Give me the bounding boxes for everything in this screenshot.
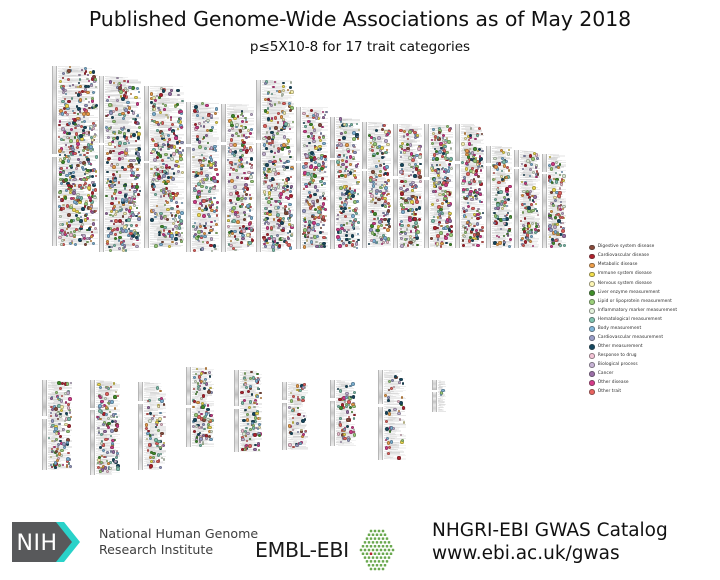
association-dot (476, 210, 478, 212)
nih-logo-icon: NIH (12, 518, 90, 566)
association-dot (193, 388, 195, 390)
legend-color-swatch (589, 344, 595, 350)
association-dot (84, 104, 87, 107)
association-dot (216, 173, 219, 176)
association-dot (97, 466, 100, 469)
nih-institute-name: National Human Genome Research Institute (99, 526, 258, 558)
association-dot (182, 149, 184, 151)
association-dot (347, 173, 350, 176)
association-dot (249, 194, 251, 196)
legend-item-label: Inflammatory marker measurement (598, 309, 677, 313)
association-dot (249, 175, 253, 179)
association-dot (476, 134, 478, 136)
association-dot (125, 91, 127, 93)
association-dot (123, 142, 126, 145)
association-dot (104, 397, 107, 400)
association-dot (256, 395, 259, 398)
centromere-marker (234, 406, 239, 409)
association-dot (177, 221, 179, 223)
legend-color-swatch (589, 245, 595, 251)
association-dot (214, 168, 217, 171)
association-dots (302, 107, 328, 249)
association-dot (203, 380, 206, 383)
association-dot (205, 205, 207, 207)
association-dot (316, 223, 320, 227)
association-dot (111, 442, 114, 445)
association-dot (441, 190, 443, 192)
chromosome-ideogram (393, 124, 398, 248)
association-dots (384, 370, 406, 460)
association-dot (291, 409, 294, 412)
association-dot (531, 209, 534, 212)
association-dot (297, 407, 299, 409)
association-dot (243, 218, 246, 221)
association-dot (171, 168, 173, 170)
association-dot (296, 422, 299, 425)
association-dot (323, 245, 326, 248)
association-dot (58, 464, 61, 467)
legend-item-label: Body measurement (598, 327, 641, 331)
association-dot (288, 203, 292, 207)
association-dot (195, 440, 198, 443)
association-dot (477, 213, 480, 216)
association-dot (232, 219, 236, 223)
association-dot (311, 200, 314, 203)
association-dot (203, 428, 205, 430)
association-dot (246, 233, 250, 237)
association-dot (62, 72, 65, 75)
association-dot (50, 426, 52, 428)
legend-item: Liver enzyme measurement (589, 288, 717, 297)
association-dot (349, 385, 352, 388)
association-dot (309, 156, 313, 160)
association-dot (267, 92, 269, 94)
association-dot (245, 193, 248, 196)
legend-color-swatch (589, 380, 595, 386)
association-dot (324, 208, 327, 211)
legend-item-label: Liver enzyme measurement (598, 291, 660, 295)
association-dot (69, 139, 73, 143)
footer: NIH National Human Genome Research Insti… (0, 505, 720, 580)
association-dot (232, 206, 236, 210)
nih-line-2: Research Institute (99, 542, 258, 558)
association-dot (381, 128, 384, 131)
association-dot (79, 110, 81, 112)
association-dot (351, 214, 355, 218)
association-dot (130, 174, 133, 177)
legend-item: Other measurement (589, 343, 717, 352)
legend-color-swatch (589, 299, 595, 305)
association-dot (378, 174, 381, 177)
association-dot (211, 126, 214, 129)
association-dot (355, 164, 359, 168)
association-dot (386, 240, 389, 243)
association-dot (419, 163, 422, 166)
association-dot (522, 211, 524, 213)
association-dot (69, 191, 72, 194)
association-dot (351, 426, 354, 429)
association-dot (164, 204, 166, 206)
association-dot (110, 220, 112, 222)
association-dot (178, 215, 181, 218)
centromere-marker (330, 158, 335, 161)
association-dot (159, 466, 162, 469)
association-dot (62, 91, 65, 94)
centromere-marker (256, 140, 261, 143)
association-dot (345, 244, 348, 247)
association-dot (208, 232, 211, 235)
association-dot (559, 208, 562, 211)
association-dot (264, 245, 266, 247)
association-dot (150, 460, 153, 463)
centromere-marker (432, 390, 437, 393)
association-dot (386, 133, 389, 136)
association-dot (561, 216, 564, 219)
association-dot (535, 166, 538, 169)
association-dot (150, 168, 152, 170)
association-dot (118, 247, 121, 250)
association-dot (193, 400, 195, 402)
association-dot (86, 158, 90, 162)
association-dot (178, 226, 181, 229)
association-dot (229, 199, 232, 202)
association-dot (92, 70, 96, 74)
association-dots (240, 370, 262, 452)
association-dot (157, 405, 160, 408)
association-dot (382, 212, 384, 214)
association-dot (399, 170, 403, 174)
association-dot (86, 237, 89, 240)
association-dot (204, 372, 207, 375)
association-dot (300, 429, 302, 431)
centromere-marker (455, 161, 460, 164)
association-dot (441, 389, 445, 393)
association-dot (157, 152, 160, 155)
association-dot (160, 225, 163, 228)
association-dot (316, 189, 319, 192)
association-dot (137, 217, 141, 221)
association-dot (382, 234, 385, 237)
association-dot (272, 187, 275, 190)
association-dot (353, 414, 355, 416)
association-dot (241, 234, 244, 237)
association-dot (67, 188, 70, 191)
association-dot (174, 136, 178, 140)
association-dot (289, 246, 292, 249)
association-dot (419, 180, 422, 183)
association-dot (527, 231, 529, 233)
association-dot (118, 141, 122, 145)
association-dot (404, 232, 406, 234)
association-dot (290, 81, 292, 83)
association-dot (559, 187, 561, 189)
association-dot (205, 178, 208, 181)
association-dot (480, 169, 482, 171)
association-dot (430, 237, 432, 239)
association-dot (163, 458, 166, 461)
association-dot (474, 195, 476, 197)
association-dot (169, 196, 172, 199)
association-dot (391, 379, 394, 382)
association-dot (64, 423, 68, 427)
association-dot (280, 129, 283, 132)
association-dot (312, 140, 316, 144)
association-dot (210, 237, 214, 241)
centromere-marker (186, 405, 191, 408)
association-dot (123, 80, 126, 83)
association-dot (343, 185, 346, 188)
association-dot (373, 142, 377, 146)
association-dot (469, 148, 471, 150)
association-dot (414, 213, 417, 216)
legend-item: Other trait (589, 388, 717, 397)
association-dot (135, 140, 137, 142)
association-dot (250, 148, 254, 152)
association-dots (520, 150, 540, 248)
association-dot (384, 394, 387, 397)
association-dot (75, 210, 78, 213)
association-dot (237, 115, 239, 117)
association-dot (209, 156, 212, 159)
association-dot (400, 231, 402, 233)
association-dot (462, 191, 464, 193)
association-dot (433, 226, 436, 229)
association-dot (241, 165, 244, 168)
association-dot (168, 138, 170, 140)
chromosome-ideogram (486, 146, 491, 248)
association-dot (290, 185, 292, 187)
association-dot (116, 77, 119, 80)
embl-ebi-branding: EMBL-EBI (255, 527, 400, 573)
association-dot (250, 197, 252, 199)
association-dot (123, 244, 126, 247)
association-dot (87, 186, 91, 190)
association-dot (119, 206, 121, 208)
association-dot (434, 139, 436, 141)
association-dot (401, 439, 404, 442)
association-dot (555, 172, 557, 174)
association-dot (264, 218, 267, 221)
chromosome-11 (424, 124, 453, 248)
association-dot (434, 169, 437, 172)
association-dot (274, 164, 276, 166)
association-dot (67, 452, 70, 455)
association-dot (157, 429, 160, 432)
association-dot (162, 233, 165, 236)
association-dot (302, 209, 306, 213)
association-dot (119, 90, 123, 94)
legend-item: Hematological measurement (589, 315, 717, 324)
association-dot (522, 224, 525, 227)
association-dot (246, 413, 250, 417)
association-dot (471, 167, 473, 169)
association-dot (69, 411, 72, 414)
association-dot (449, 233, 453, 237)
legend-item: Nervous system disease (589, 279, 717, 288)
association-dot (341, 193, 343, 195)
association-dot (384, 205, 387, 208)
association-dot (246, 440, 248, 442)
association-dot (107, 157, 111, 161)
association-dot (50, 415, 52, 417)
association-dot (111, 116, 114, 119)
association-dot (202, 181, 205, 184)
association-dot (170, 199, 173, 202)
association-dot (214, 112, 217, 115)
association-dot (450, 147, 453, 150)
association-dot (157, 453, 161, 457)
association-dot (240, 241, 243, 244)
association-dot (409, 241, 412, 244)
association-dot (481, 241, 483, 243)
association-dot (194, 222, 196, 224)
association-dot (56, 448, 59, 451)
association-dot (287, 243, 290, 246)
association-dot (202, 214, 206, 218)
association-dot (136, 207, 138, 209)
association-dot (61, 112, 64, 115)
association-dot (154, 244, 158, 248)
association-dot (159, 170, 162, 173)
association-dot (380, 224, 383, 227)
chromosome-ideogram (330, 117, 335, 249)
association-dot (253, 402, 256, 405)
association-dot (374, 202, 376, 204)
association-dot (339, 417, 342, 420)
association-dot (138, 126, 141, 129)
association-dot (116, 467, 119, 470)
association-dot (242, 141, 246, 145)
association-dot (192, 148, 194, 150)
association-dot (301, 419, 305, 423)
association-dot (339, 211, 341, 213)
association-dot (436, 242, 440, 246)
association-dot (508, 229, 511, 232)
association-dot (440, 245, 442, 247)
association-dot (530, 203, 533, 206)
association-dot (229, 192, 233, 196)
association-dot (507, 234, 509, 236)
association-dot (110, 210, 113, 213)
chromosome-12 (455, 124, 484, 248)
association-dot (535, 222, 538, 225)
association-dot (406, 228, 408, 230)
association-dot (557, 213, 560, 216)
association-dot (97, 427, 100, 430)
association-dot (118, 181, 121, 184)
association-dot (461, 142, 465, 146)
trait-category-legend: Digestive system diseaseCardiovascular d… (589, 243, 717, 397)
nih-branding: NIH National Human Genome Research Insti… (12, 518, 258, 566)
association-dot (523, 155, 525, 157)
association-dot (51, 451, 53, 453)
association-dot (399, 418, 401, 420)
association-dot (98, 404, 102, 408)
association-dot (394, 375, 397, 378)
association-dot (170, 154, 173, 157)
association-dot (87, 74, 89, 76)
association-dot (276, 211, 278, 213)
association-dot (111, 141, 113, 143)
association-dot (210, 146, 213, 149)
association-dot (131, 110, 133, 112)
association-dot (461, 161, 464, 164)
association-dot (267, 98, 269, 100)
chromosome-ideogram (221, 104, 226, 252)
association-dot (268, 237, 271, 240)
association-dot (133, 202, 135, 204)
association-dot (263, 167, 266, 170)
association-dot (176, 192, 179, 195)
association-dot (310, 151, 314, 155)
association-dot (92, 219, 94, 221)
legend-item-label: Digestive system disease (598, 245, 655, 249)
association-dot (215, 223, 218, 226)
association-dot (83, 116, 85, 118)
association-dot (493, 172, 495, 174)
association-dot (64, 196, 67, 199)
association-dot (249, 132, 252, 135)
association-dot (102, 423, 105, 426)
association-dot (91, 175, 94, 178)
association-dot (78, 201, 82, 205)
association-dot (521, 181, 523, 183)
association-dot (303, 245, 307, 249)
association-dot (234, 213, 237, 216)
association-dot (179, 157, 183, 161)
association-dot (197, 230, 201, 234)
association-dot (439, 217, 441, 219)
association-dot (340, 132, 343, 135)
association-dot (323, 155, 327, 159)
association-dot (450, 167, 453, 170)
association-dot (282, 85, 285, 88)
chromosome-22 (330, 380, 356, 446)
embl-ebi-wordmark: EMBL-EBI (255, 538, 349, 562)
association-dot (351, 194, 355, 198)
association-dot (400, 224, 404, 228)
association-dot (441, 212, 444, 215)
association-dot (156, 95, 158, 97)
association-dot (70, 128, 73, 131)
association-dot (277, 112, 280, 115)
chromosome-19 (186, 367, 214, 447)
association-dot (157, 123, 160, 126)
association-dot (245, 444, 248, 447)
association-dot (89, 71, 92, 74)
association-dot (198, 426, 201, 429)
association-dot (245, 435, 247, 437)
association-dot (118, 219, 122, 223)
association-dot (348, 207, 350, 209)
association-dot (62, 151, 64, 153)
association-dot (198, 140, 201, 143)
association-dot (465, 216, 467, 218)
association-dot (133, 204, 136, 207)
association-dot (181, 154, 183, 156)
association-dot (320, 245, 323, 248)
association-dot (246, 177, 249, 180)
association-dot (476, 217, 480, 221)
association-dot (179, 110, 183, 114)
chromosome-ideogram (144, 86, 149, 248)
association-dot (345, 234, 348, 237)
association-dot (388, 225, 391, 228)
association-dot (88, 107, 90, 109)
association-dot (213, 210, 216, 213)
legend-item-label: Cancer (598, 372, 614, 376)
association-dot (208, 160, 211, 163)
